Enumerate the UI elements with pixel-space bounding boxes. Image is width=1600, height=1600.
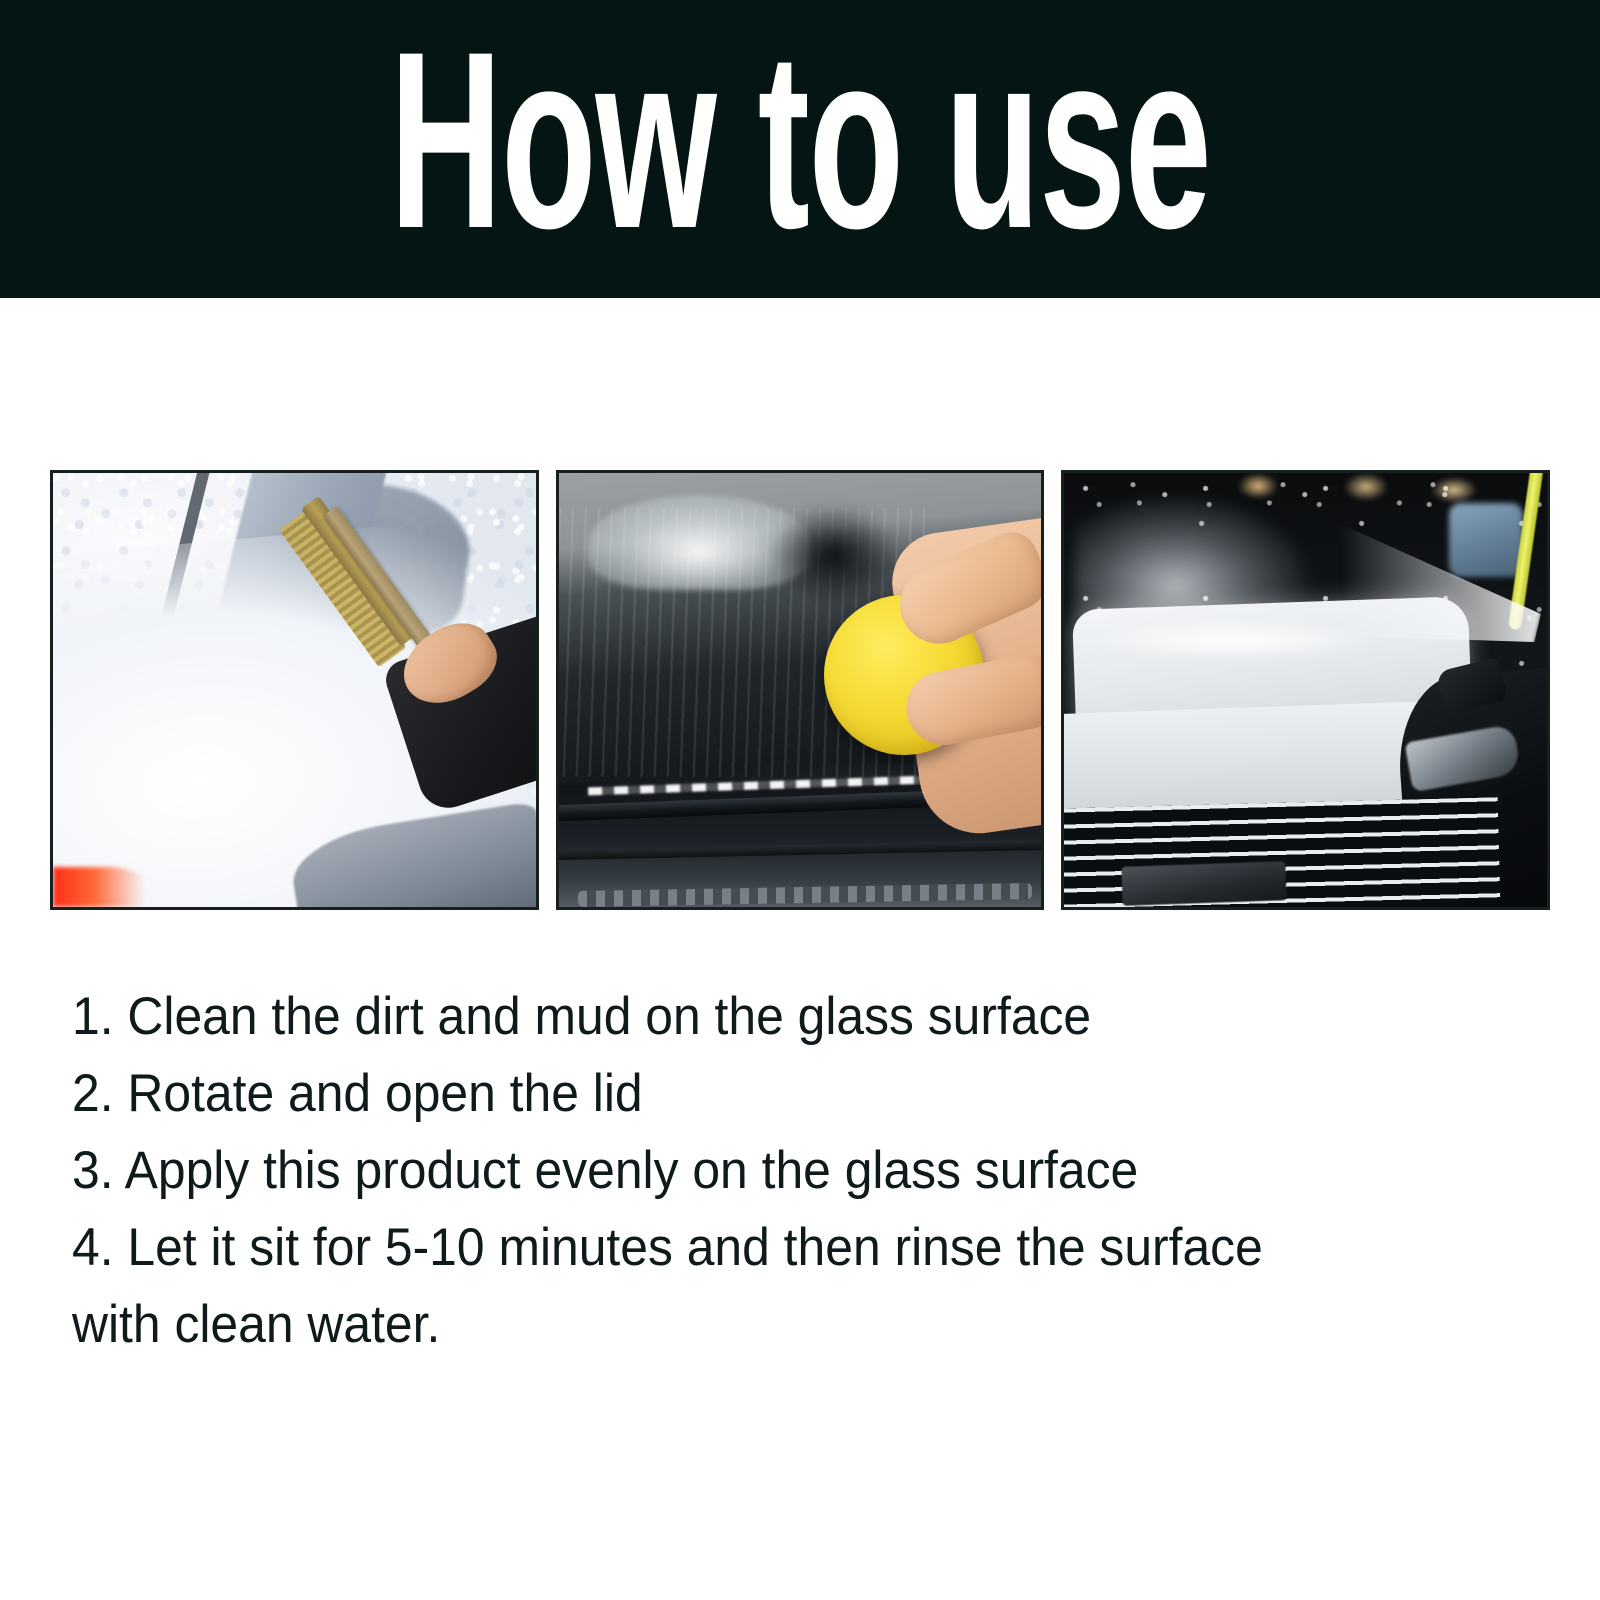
instruction-line: 2. Rotate and open the lid bbox=[72, 1055, 1435, 1132]
license-plate-area bbox=[1122, 861, 1287, 906]
header-banner: How to use bbox=[0, 0, 1600, 298]
car-taillight bbox=[53, 867, 145, 907]
instruction-line: 3. Apply this product evenly on the glas… bbox=[72, 1132, 1435, 1209]
rinse-water-photo bbox=[1061, 470, 1550, 910]
how-to-use-infographic: How to use bbox=[0, 0, 1600, 1600]
page-title: How to use bbox=[304, 0, 1296, 298]
instruction-line: with clean water. bbox=[72, 1286, 1435, 1363]
instruction-line: 1. Clean the dirt and mud on the glass s… bbox=[72, 978, 1435, 1055]
clean-snow-photo bbox=[50, 470, 539, 910]
photo-strip bbox=[50, 470, 1550, 910]
apply-sponge-photo bbox=[556, 470, 1045, 910]
instruction-list: 1. Clean the dirt and mud on the glass s… bbox=[72, 978, 1522, 1363]
glass-shadow bbox=[771, 508, 896, 603]
instruction-line: 4. Let it sit for 5-10 minutes and then … bbox=[72, 1209, 1435, 1286]
